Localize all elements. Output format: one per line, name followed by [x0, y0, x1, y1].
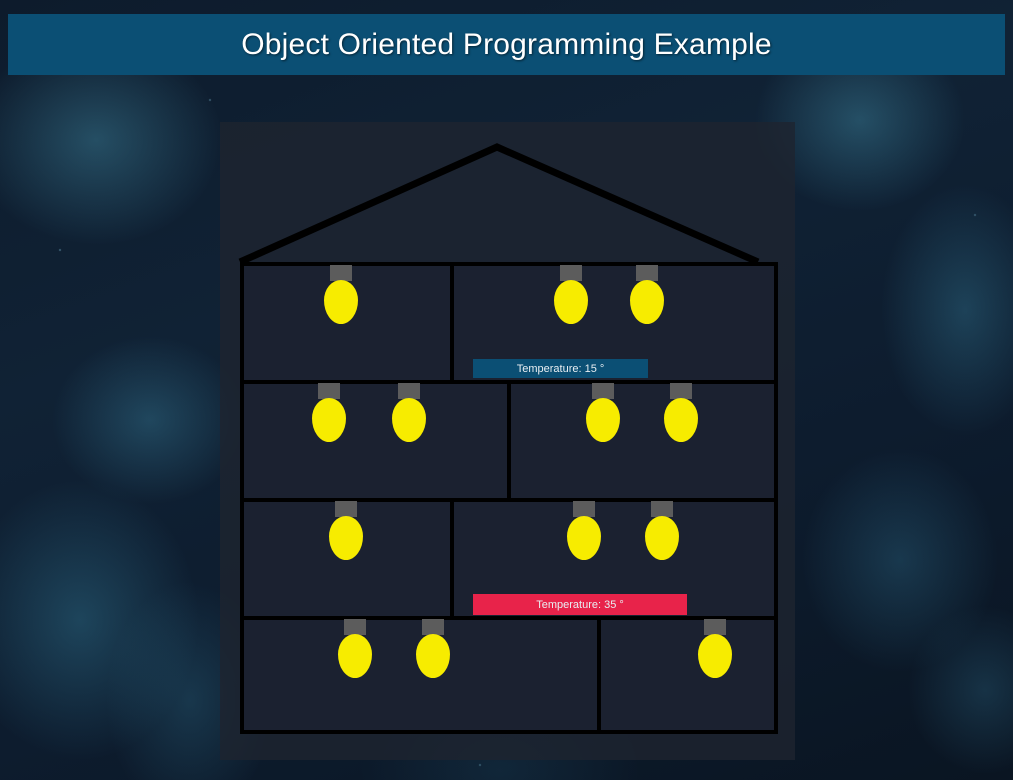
bulb-socket-icon	[651, 501, 673, 517]
bulb-glass-icon	[554, 280, 588, 324]
light-bulb[interactable]	[329, 501, 363, 560]
title-banner: Object Oriented Programming Example	[8, 14, 1005, 75]
bulb-socket-icon	[636, 265, 658, 281]
bulb-glass-icon	[338, 634, 372, 678]
bulb-glass-icon	[329, 516, 363, 560]
temperature-text: Temperature: 35 °	[536, 599, 624, 611]
bulb-glass-icon	[416, 634, 450, 678]
light-bulb[interactable]	[630, 265, 664, 324]
bulb-socket-icon	[704, 619, 726, 635]
bulb-socket-icon	[592, 383, 614, 399]
bulb-socket-icon	[344, 619, 366, 635]
light-bulb[interactable]	[312, 383, 346, 442]
light-bulb[interactable]	[567, 501, 601, 560]
bulb-glass-icon	[312, 398, 346, 442]
bulb-glass-icon	[586, 398, 620, 442]
room-3[interactable]	[240, 380, 511, 502]
house-diagram-panel: Temperature: 15 °	[220, 122, 795, 760]
light-bulb[interactable]	[416, 619, 450, 678]
bulb-socket-icon	[573, 501, 595, 517]
bulb-glass-icon	[567, 516, 601, 560]
bulb-glass-icon	[664, 398, 698, 442]
light-bulb[interactable]	[698, 619, 732, 678]
bulb-socket-icon	[318, 383, 340, 399]
bulb-socket-icon	[560, 265, 582, 281]
bulb-socket-icon	[335, 501, 357, 517]
bulb-socket-icon	[670, 383, 692, 399]
room-8[interactable]	[597, 616, 778, 734]
room-2[interactable]: Temperature: 15 °	[450, 262, 778, 384]
light-bulb[interactable]	[338, 619, 372, 678]
bulb-glass-icon	[392, 398, 426, 442]
room-1[interactable]	[240, 262, 454, 384]
room-4[interactable]	[507, 380, 778, 502]
bulb-socket-icon	[422, 619, 444, 635]
bulb-glass-icon	[645, 516, 679, 560]
temperature-text: Temperature: 15 °	[517, 363, 605, 375]
status-badge-temperature-hot: Temperature: 35 °	[473, 594, 687, 615]
light-bulb[interactable]	[645, 501, 679, 560]
light-bulb[interactable]	[392, 383, 426, 442]
page-title: Object Oriented Programming Example	[241, 28, 772, 62]
bulb-glass-icon	[698, 634, 732, 678]
light-bulb[interactable]	[586, 383, 620, 442]
light-bulb[interactable]	[664, 383, 698, 442]
light-bulb[interactable]	[324, 265, 358, 324]
room-5[interactable]	[240, 498, 454, 620]
building-rooms-grid: Temperature: 15 °	[240, 262, 778, 732]
bulb-glass-icon	[324, 280, 358, 324]
room-6[interactable]: Temperature: 35 °	[450, 498, 778, 620]
status-badge-temperature-cold: Temperature: 15 °	[473, 359, 648, 378]
room-7[interactable]	[240, 616, 601, 734]
light-bulb[interactable]	[554, 265, 588, 324]
bulb-glass-icon	[630, 280, 664, 324]
roof-icon	[220, 122, 795, 272]
bulb-socket-icon	[330, 265, 352, 281]
bulb-socket-icon	[398, 383, 420, 399]
